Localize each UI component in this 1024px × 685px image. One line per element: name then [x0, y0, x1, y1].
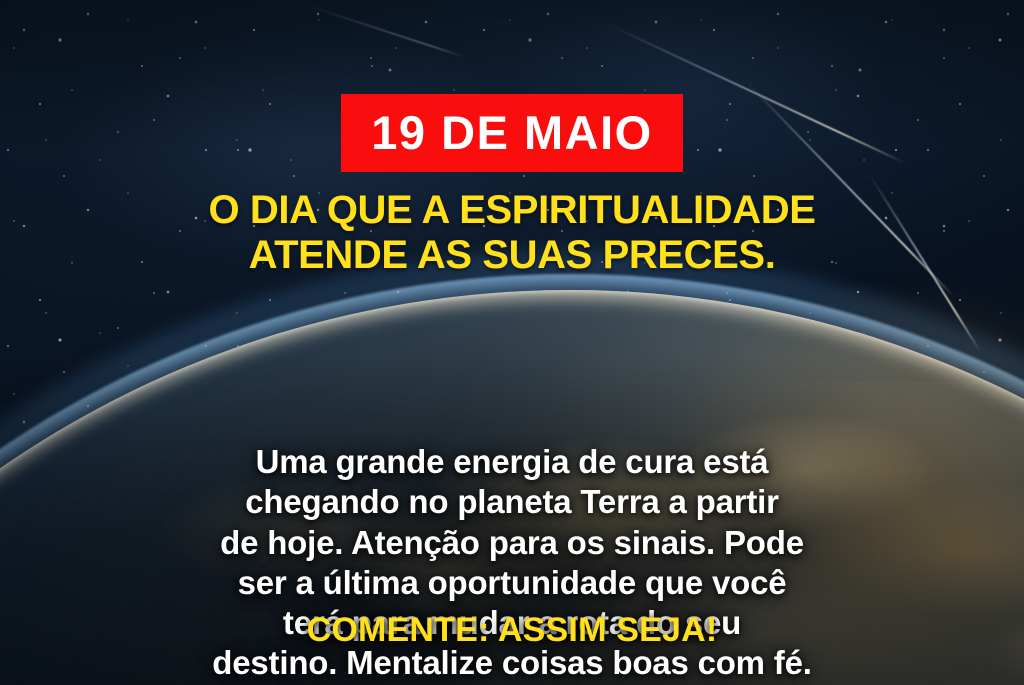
- headline-line-1: O DIA QUE A ESPIRITUALIDADE: [52, 188, 972, 233]
- body-line-3: de hoje. Atenção para os sinais. Pode: [62, 523, 962, 563]
- call-to-action-text: COMENTE: ASSIM SEJA!: [0, 611, 1024, 650]
- headline: O DIA QUE A ESPIRITUALIDADE ATENDE AS SU…: [52, 188, 972, 278]
- body-line-2: chegando no planeta Terra a partir: [62, 482, 962, 522]
- date-banner: 19 DE MAIO: [341, 94, 682, 172]
- poster-canvas: 19 DE MAIO O DIA QUE A ESPIRITUALIDADE A…: [0, 0, 1024, 685]
- body-line-4: ser a última oportunidade que você: [62, 563, 962, 603]
- headline-line-2: ATENDE AS SUAS PRECES.: [52, 233, 972, 278]
- body-line-1: Uma grande energia de cura está: [62, 442, 962, 482]
